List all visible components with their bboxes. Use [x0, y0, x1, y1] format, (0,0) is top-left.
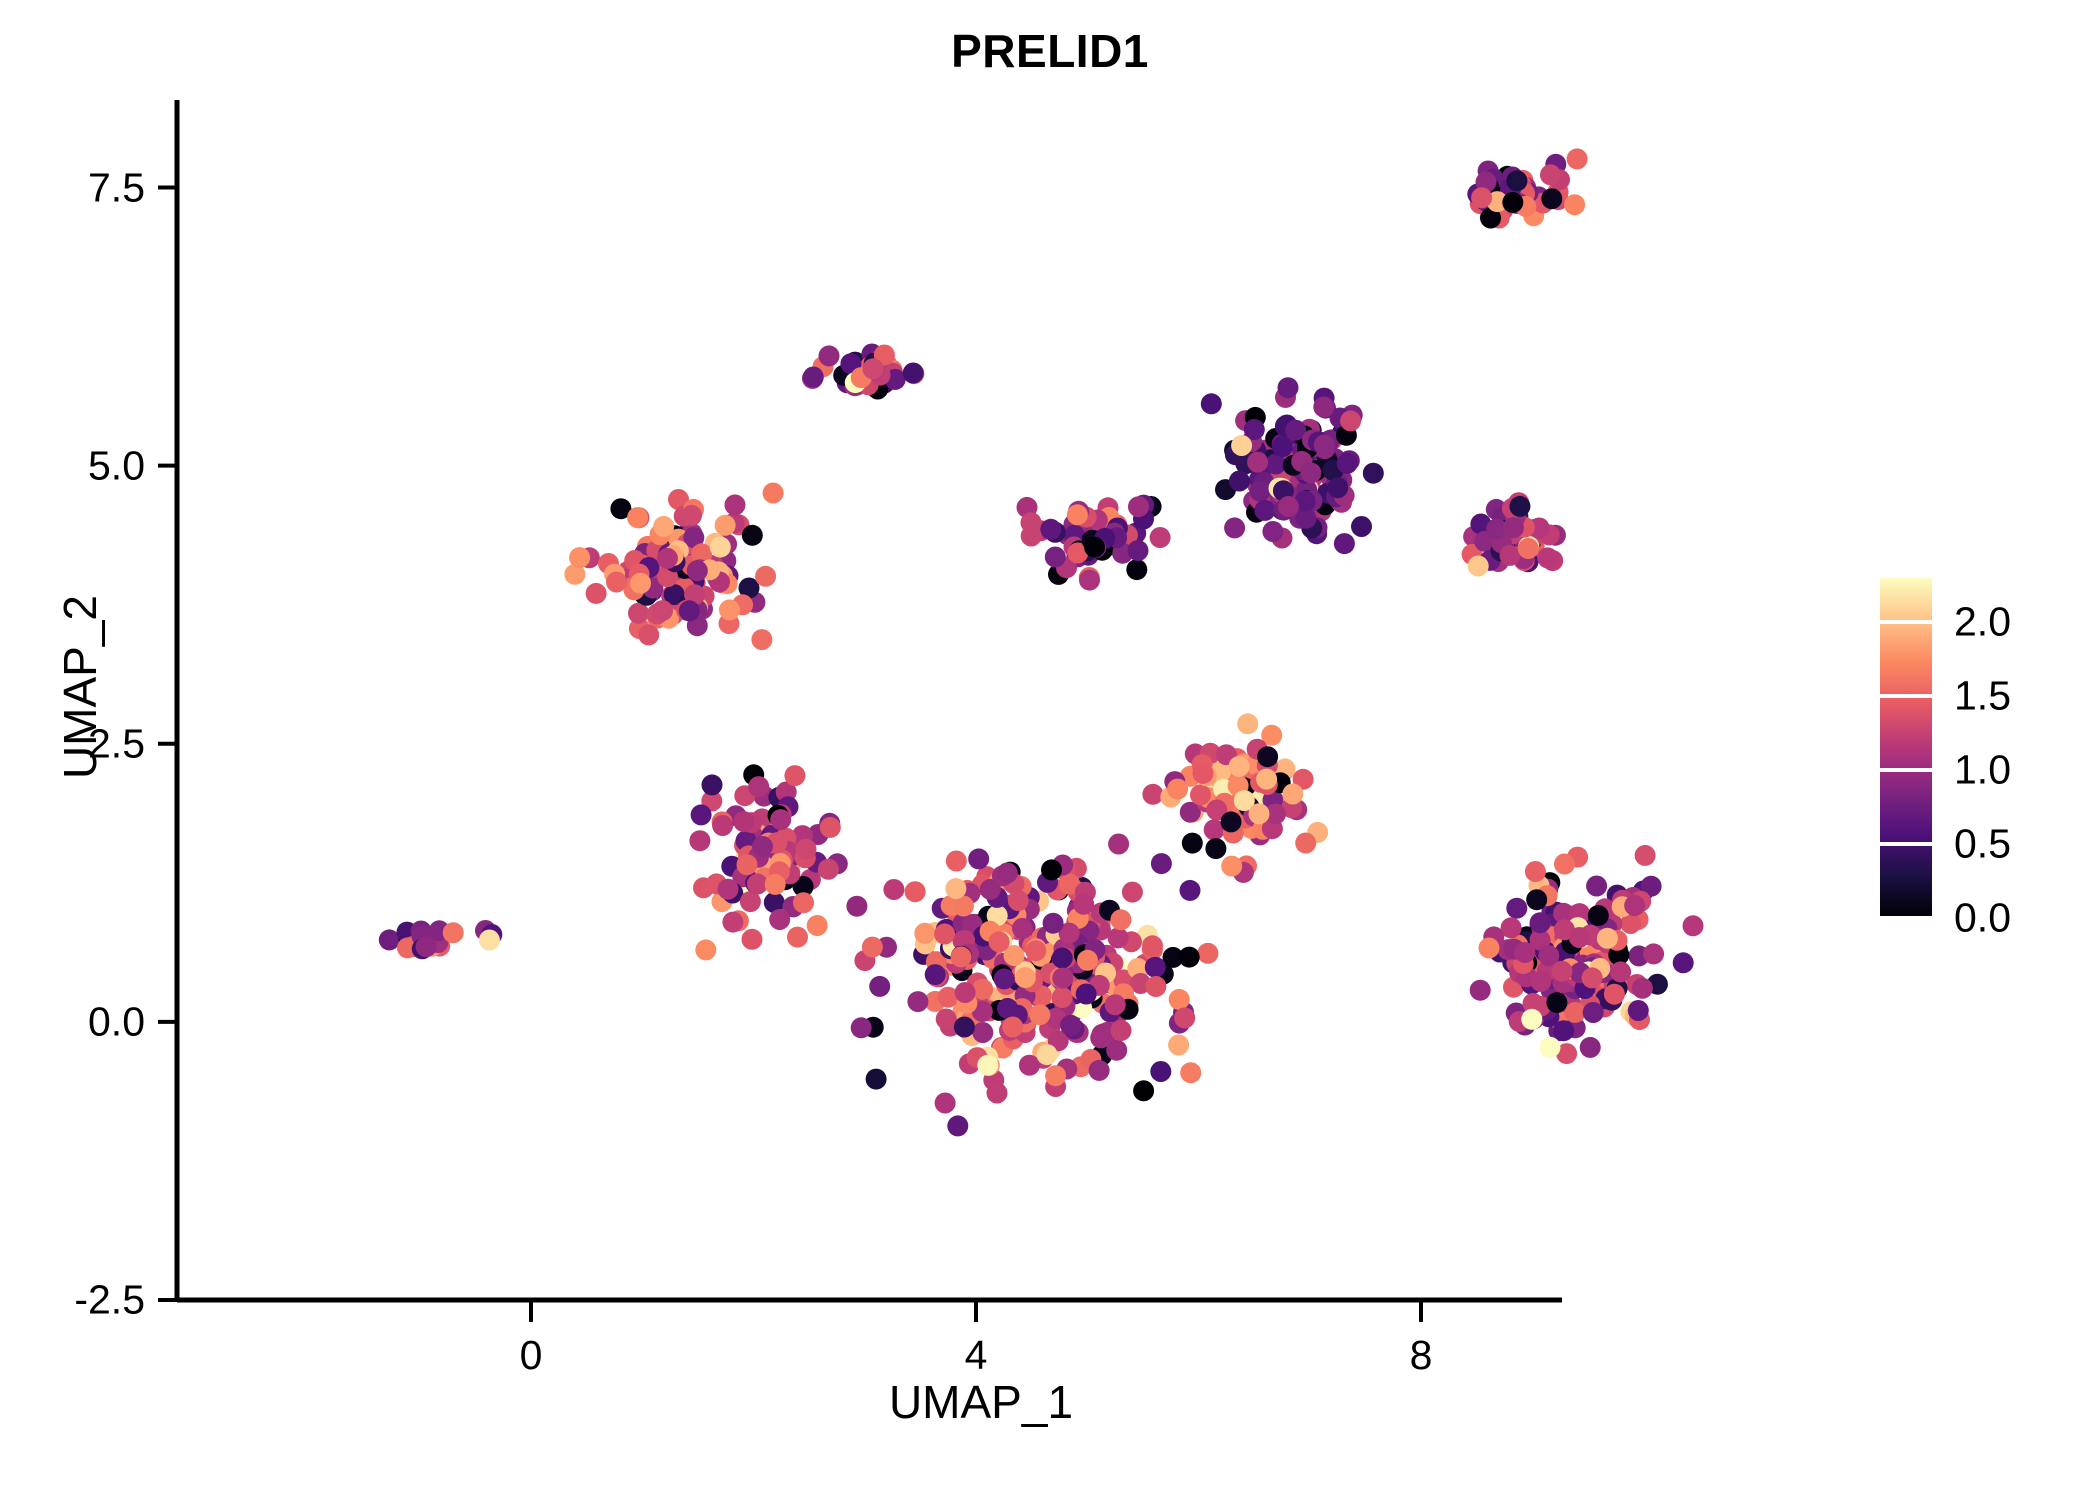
- scatter-point: [972, 979, 993, 1000]
- scatter-point: [748, 776, 769, 797]
- scatter-point: [702, 774, 723, 795]
- scatter-point: [1582, 967, 1603, 988]
- scatter-point: [862, 937, 883, 958]
- scatter-point: [691, 804, 712, 825]
- scatter-point: [1142, 935, 1163, 956]
- scatter-point: [977, 1055, 998, 1076]
- x-tick-label: 0: [471, 1332, 591, 1379]
- scatter-point: [1514, 942, 1535, 963]
- scatter-point: [989, 931, 1010, 952]
- scatter-point: [1337, 453, 1358, 474]
- scatter-point: [1247, 452, 1268, 473]
- scatter-point: [1079, 570, 1100, 591]
- scatter-point: [1604, 984, 1625, 1005]
- scatter-point: [863, 358, 884, 379]
- scatter-point: [1180, 1062, 1201, 1083]
- scatter-point: [1179, 947, 1200, 968]
- scatter-point: [689, 830, 710, 851]
- scatter-point: [1167, 779, 1188, 800]
- scatter-point: [1468, 556, 1489, 577]
- scatter-point: [630, 573, 651, 594]
- scatter-point: [936, 1009, 957, 1030]
- y-tick-marks: [158, 188, 177, 1301]
- scatter-point: [1174, 1007, 1195, 1028]
- scatter-point: [1272, 436, 1293, 457]
- scatter-point: [627, 507, 648, 528]
- scatter-point: [1040, 519, 1061, 540]
- scatter-point: [1145, 957, 1166, 978]
- scatter-point: [914, 923, 935, 944]
- scatter-point: [793, 892, 814, 913]
- scatter-point: [1518, 538, 1539, 559]
- scatter-point: [1635, 845, 1656, 866]
- scatter-point: [1632, 978, 1653, 999]
- colorbar-tick-label: 0.0: [1954, 895, 2011, 942]
- scatter-point: [1105, 994, 1126, 1015]
- scatter-point: [1052, 968, 1073, 989]
- scatter-point: [945, 878, 966, 899]
- scatter-point: [1224, 517, 1245, 538]
- scatter-point: [1567, 148, 1588, 169]
- scatter-point: [725, 494, 746, 515]
- scatter-point: [1151, 853, 1172, 874]
- scatter-point: [737, 854, 758, 875]
- scatter-point: [1554, 854, 1575, 875]
- scatter-point: [710, 537, 731, 558]
- scatter-point: [1110, 909, 1131, 930]
- scatter-point: [1077, 950, 1098, 971]
- scatter-point: [1471, 187, 1492, 208]
- scatter-point: [1588, 905, 1609, 926]
- scatter-point: [1470, 980, 1491, 1001]
- scatter-point: [606, 572, 627, 593]
- scatter-point: [1541, 188, 1562, 209]
- scatter-point: [1045, 1065, 1066, 1086]
- scatter-point: [742, 525, 763, 546]
- scatter-point: [987, 1083, 1008, 1104]
- scatter-point: [1197, 943, 1218, 964]
- scatter-point: [883, 879, 904, 900]
- scatter-point: [1067, 504, 1088, 525]
- scatter-point: [1278, 496, 1299, 517]
- scatter-point: [1108, 927, 1129, 948]
- scatter-points-layer: [379, 148, 1704, 1136]
- scatter-point: [652, 600, 673, 621]
- scatter-point: [1089, 1060, 1110, 1081]
- scatter-point: [1076, 984, 1097, 1005]
- scatter-point: [1052, 987, 1073, 1008]
- scatter-point: [1221, 811, 1242, 832]
- scatter-point: [1295, 833, 1316, 854]
- scatter-point: [769, 909, 790, 930]
- scatter-point: [1229, 471, 1250, 492]
- scatter-point: [479, 930, 500, 951]
- scatter-point: [712, 815, 733, 836]
- scatter-point: [1257, 746, 1278, 767]
- scatter-point: [1540, 1037, 1561, 1058]
- scatter-point: [1041, 859, 1062, 880]
- scatter-point: [416, 936, 437, 957]
- colorbar-tick-mark: [1880, 842, 1932, 846]
- scatter-point: [1221, 856, 1242, 877]
- scatter-point: [1363, 463, 1384, 484]
- scatter-point: [1108, 834, 1129, 855]
- scatter-point: [980, 879, 1001, 900]
- scatter-point: [1111, 1020, 1132, 1041]
- scatter-point: [1569, 927, 1590, 948]
- scatter-point: [1205, 838, 1226, 859]
- scatter-point: [1126, 559, 1147, 580]
- scatter-point: [851, 1017, 872, 1038]
- scatter-point: [905, 881, 926, 902]
- scatter-point: [733, 811, 754, 832]
- scatter-point: [1254, 500, 1275, 521]
- scatter-point: [994, 968, 1015, 989]
- scatter-point: [972, 1022, 993, 1043]
- scatter-point: [1037, 1044, 1058, 1065]
- scatter-point: [1479, 938, 1500, 959]
- colorbar-tick-mark: [1880, 620, 1932, 624]
- scatter-point: [1628, 1000, 1649, 1021]
- scatter-point: [1683, 915, 1704, 936]
- scatter-point: [653, 516, 674, 537]
- scatter-point: [1564, 194, 1585, 215]
- scatter-point: [968, 848, 989, 869]
- scatter-point: [718, 879, 739, 900]
- colorbar-tick-label: 0.5: [1954, 821, 2011, 868]
- y-tick-label: 7.5: [5, 164, 145, 211]
- scatter-point: [638, 624, 659, 645]
- scatter-point: [955, 982, 976, 1003]
- scatter-point: [1552, 961, 1573, 982]
- scatter-point: [1643, 943, 1664, 964]
- scatter-point: [1256, 769, 1277, 790]
- scatter-point: [807, 915, 828, 936]
- scatter-point: [954, 1017, 975, 1038]
- scatter-point: [657, 548, 678, 569]
- plot-canvas: [0, 0, 2100, 1500]
- scatter-point: [1029, 1004, 1050, 1025]
- scatter-point: [719, 599, 740, 620]
- scatter-point: [934, 924, 955, 945]
- colorbar-tick-mark: [1880, 768, 1932, 772]
- scatter-point: [1500, 545, 1521, 566]
- scatter-point: [752, 836, 773, 857]
- scatter-point: [1673, 952, 1694, 973]
- scatter-point: [1526, 889, 1547, 910]
- scatter-point: [1340, 410, 1361, 431]
- scatter-point: [443, 922, 464, 943]
- colorbar-tick-mark: [1880, 694, 1932, 698]
- colorbar-tick-label: 1.5: [1954, 673, 2011, 720]
- scatter-point: [1249, 803, 1270, 824]
- scatter-point: [681, 505, 702, 526]
- scatter-point: [1278, 377, 1299, 398]
- colorbar-tick-mark: [1880, 916, 1932, 920]
- scatter-point: [1128, 540, 1149, 561]
- scatter-point: [1002, 1017, 1023, 1038]
- scatter-point: [1133, 1080, 1154, 1101]
- scatter-point: [1193, 763, 1214, 784]
- scatter-point: [1580, 1037, 1601, 1058]
- scatter-point: [770, 809, 791, 830]
- scatter-point: [1351, 516, 1372, 537]
- scatter-point: [1168, 1035, 1189, 1056]
- scatter-point: [1150, 1061, 1171, 1082]
- scatter-point: [1150, 527, 1171, 548]
- scatter-point: [1008, 890, 1029, 911]
- scatter-point: [1530, 912, 1551, 933]
- color-legend: 2.01.51.00.50.0: [1880, 578, 2080, 938]
- scatter-point: [784, 765, 805, 786]
- scatter-point: [1019, 1055, 1040, 1076]
- scatter-point: [1553, 1020, 1574, 1041]
- x-axis-title: UMAP_1: [531, 1375, 1431, 1429]
- scatter-point: [765, 874, 786, 895]
- scatter-point: [751, 629, 772, 650]
- scatter-point: [722, 912, 743, 933]
- scatter-point: [1180, 880, 1201, 901]
- scatter-point: [997, 863, 1018, 884]
- scatter-point: [951, 946, 972, 967]
- scatter-point: [1565, 1002, 1586, 1023]
- scatter-point: [818, 859, 839, 880]
- scatter-point: [997, 998, 1018, 1019]
- scatter-point: [1300, 462, 1321, 483]
- scatter-point: [1509, 496, 1530, 517]
- scatter-point: [679, 600, 700, 621]
- scatter-point: [1503, 517, 1524, 538]
- scatter-point: [1122, 882, 1143, 903]
- colorbar-tick-label: 1.0: [1954, 747, 2011, 794]
- scatter-point: [819, 345, 840, 366]
- scatter-point: [1190, 784, 1211, 805]
- scatter-point: [687, 560, 708, 581]
- scatter-point: [755, 566, 776, 587]
- scatter-point: [1128, 496, 1149, 517]
- scatter-point: [1015, 967, 1036, 988]
- scatter-point: [1052, 948, 1073, 969]
- scatter-point: [763, 483, 784, 504]
- scatter-point: [787, 927, 808, 948]
- colorbar-gradient: [1880, 578, 1932, 918]
- scatter-point: [1624, 895, 1645, 916]
- scatter-point: [866, 1069, 887, 1090]
- scatter-point: [1502, 192, 1523, 213]
- colorbar-tick-label: 2.0: [1954, 599, 2011, 646]
- scatter-point: [569, 547, 590, 568]
- scatter-point: [1530, 971, 1551, 992]
- scatter-point: [1282, 784, 1303, 805]
- scatter-point: [1506, 170, 1527, 191]
- scatter-point: [1525, 861, 1546, 882]
- scatter-point: [1314, 435, 1335, 456]
- scatter-point: [846, 896, 867, 917]
- scatter-point: [925, 964, 946, 985]
- scatter-point: [586, 583, 607, 604]
- scatter-point: [1229, 756, 1250, 777]
- scatter-point: [903, 363, 924, 384]
- scatter-point: [1012, 918, 1033, 939]
- scatter-point: [695, 939, 716, 960]
- scatter-point: [1313, 397, 1334, 418]
- scatter-point: [1169, 989, 1190, 1010]
- scatter-point: [1334, 533, 1355, 554]
- scatter-point: [1597, 928, 1618, 949]
- y-tick-label: -2.5: [5, 1277, 145, 1324]
- axis-layer: [158, 100, 1562, 1322]
- scatter-point: [1145, 976, 1166, 997]
- scatter-point: [1231, 435, 1252, 456]
- scatter-point: [820, 817, 841, 838]
- scatter-point: [1262, 521, 1283, 542]
- scatter-point: [1045, 547, 1066, 568]
- scatter-point: [1610, 961, 1631, 982]
- scatter-point: [1182, 833, 1203, 854]
- scatter-point: [796, 839, 817, 860]
- scatter-point: [935, 1093, 956, 1114]
- x-tick-marks: [531, 1300, 1421, 1322]
- scatter-point: [1586, 876, 1607, 897]
- scatter-point: [715, 515, 736, 536]
- scatter-point: [1540, 164, 1561, 185]
- scatter-point: [946, 851, 967, 872]
- scatter-point: [803, 367, 824, 388]
- scatter-point: [1583, 1002, 1604, 1023]
- scatter-point: [1090, 1027, 1111, 1048]
- x-tick-label: 4: [916, 1332, 1036, 1379]
- x-tick-label: 8: [1361, 1332, 1481, 1379]
- scatter-point: [1237, 713, 1258, 734]
- scatter-point: [1043, 913, 1064, 934]
- scatter-point: [1073, 894, 1094, 915]
- scatter-point: [907, 991, 928, 1012]
- scatter-point: [1506, 898, 1527, 919]
- scatter-point: [1142, 784, 1163, 805]
- scatter-point: [1521, 1009, 1542, 1030]
- scatter-point: [1201, 393, 1222, 414]
- scatter-point: [628, 603, 649, 624]
- scatter-point: [1327, 477, 1348, 498]
- scatter-point: [742, 929, 763, 950]
- y-axis-title: UMAP_2: [53, 307, 107, 1067]
- scatter-point: [1060, 1015, 1081, 1036]
- scatter-point: [1084, 537, 1105, 558]
- scatter-point: [869, 976, 890, 997]
- figure-root: PRELID1 -2.50.02.55.07.5 048 UMAP_1 UMAP…: [0, 0, 2100, 1500]
- scatter-point: [1250, 481, 1271, 502]
- scatter-point: [1021, 526, 1042, 547]
- scatter-point: [1537, 547, 1558, 568]
- scatter-point: [1025, 940, 1046, 961]
- scatter-point: [1546, 992, 1567, 1013]
- scatter-point: [947, 1115, 968, 1136]
